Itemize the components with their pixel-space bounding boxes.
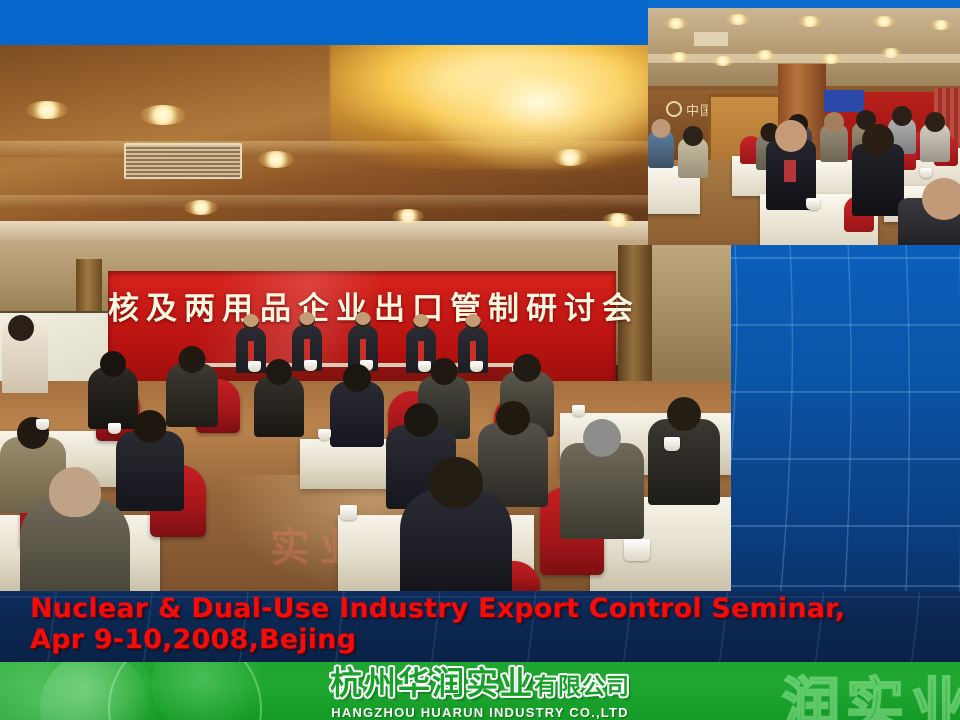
downlight [140, 105, 186, 125]
downlight [552, 149, 588, 166]
teacup [108, 423, 121, 434]
attendee-foreground [400, 489, 512, 591]
downlight [602, 213, 634, 227]
teacup-foreground [624, 539, 650, 561]
teacup [664, 437, 680, 451]
footer-company-name-cn: 杭州华润实业有限公司 [330, 666, 630, 704]
inset-teacup [920, 168, 932, 178]
inset-attendee [648, 130, 674, 168]
ceiling-vent [124, 143, 242, 179]
inset-attendee [678, 138, 708, 178]
downlight [880, 48, 902, 58]
downlight [930, 20, 952, 30]
inset-attendee-foreground [898, 198, 960, 245]
downlight [664, 18, 688, 29]
teacup [340, 505, 357, 520]
downlight [26, 101, 68, 119]
inset-wall-logo: 中国 [666, 100, 714, 119]
attendee [560, 443, 644, 539]
attendee [648, 419, 720, 505]
attendee [88, 367, 138, 429]
logo-ring-icon [666, 101, 682, 117]
top-blue-bar [0, 0, 648, 45]
downlight [184, 200, 218, 215]
teacup [36, 419, 49, 430]
attendee [254, 375, 304, 437]
attendee [330, 381, 384, 447]
attendee-foreground [20, 497, 130, 591]
company-footer-banner: 润实业 杭州华润实业有限公司 HANGZHOU HUARUN INDUSTRY … [0, 662, 960, 720]
inset-attendee-front [852, 144, 904, 216]
main-conference-photo: 核及两用品企业出口管制研讨会 实业 [0, 45, 731, 591]
photographer-head [8, 315, 34, 341]
slide-title: Nuclear & Dual-Use Industry Export Contr… [30, 593, 845, 655]
inset-wall-screen [824, 90, 864, 112]
title-band: Nuclear & Dual-Use Industry Export Contr… [0, 591, 960, 662]
inset-seminar-photo: 中国 [648, 8, 960, 245]
teacup [304, 360, 317, 371]
attendee [166, 363, 218, 427]
footer-logo-lockup: 杭州华润实业有限公司 HANGZHOU HUARUN INDUSTRY CO.,… [0, 666, 960, 720]
presentation-slide: 核及两用品企业出口管制研讨会 实业 [0, 0, 960, 720]
downlight [798, 16, 822, 27]
downlight [754, 50, 776, 60]
teacup [318, 429, 331, 440]
inset-attendee [920, 124, 950, 162]
teacup [470, 361, 483, 372]
teacup [572, 405, 585, 416]
footer-company-suffix-cn: 有限公司 [534, 674, 630, 700]
downlight [820, 54, 842, 64]
downlight [668, 52, 690, 62]
inset-ceiling-vent [694, 32, 728, 46]
attendee [116, 431, 184, 511]
inset-attendee [820, 124, 848, 162]
downlight [712, 56, 734, 66]
chandelier-core [410, 55, 670, 175]
footer-company-name-en: HANGZHOU HUARUN INDUSTRY CO.,LTD [0, 705, 960, 720]
downlight [392, 209, 424, 223]
teacup [248, 361, 261, 372]
teacup [418, 361, 431, 372]
inset-necktie [784, 160, 796, 182]
back-wall-right [646, 241, 731, 391]
downlight [258, 151, 294, 168]
footer-company-main-cn: 杭州华润实业 [330, 664, 534, 702]
downlight [872, 16, 896, 27]
ceiling-band [0, 195, 731, 209]
inset-teacup [806, 198, 820, 210]
downlight [726, 14, 750, 25]
inset-ceiling-soffit [648, 54, 960, 63]
